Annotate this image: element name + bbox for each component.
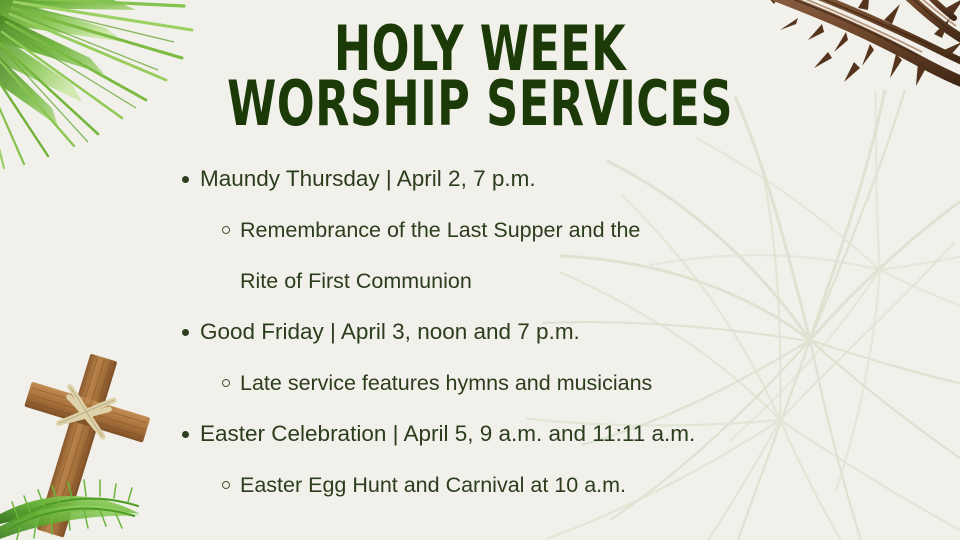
- list-item: Remembrance of the Last Supper and the: [176, 217, 916, 268]
- list-item-continuation: Rite of First Communion: [176, 268, 916, 319]
- list-item-label: Good Friday | April 3, noon and 7 p.m.: [200, 319, 580, 345]
- slide-canvas: HOLY WEEK WORSHIP SERVICES Maundy Thursd…: [0, 0, 960, 540]
- bullet-circle-icon: [222, 481, 230, 489]
- bullet-disc-icon: [182, 329, 189, 336]
- list-item-label: Easter Egg Hunt and Carnival at 10 a.m.: [240, 472, 626, 498]
- bullet-circle-icon: [222, 379, 230, 387]
- list-item-label: Maundy Thursday | April 2, 7 p.m.: [200, 166, 536, 192]
- list-item-label: Rite of First Communion: [240, 268, 472, 294]
- bullet-disc-icon: [182, 176, 189, 183]
- list-item-label: Late service features hymns and musician…: [240, 370, 652, 396]
- page-title: HOLY WEEK WORSHIP SERVICES: [0, 22, 960, 131]
- bullet-disc-icon: [182, 431, 189, 438]
- list-item: Easter Celebration | April 5, 9 a.m. and…: [176, 421, 916, 472]
- title-line-2: WORSHIP SERVICES: [96, 77, 864, 132]
- wooden-cross-with-palm-illustration: [0, 346, 205, 540]
- list-item: Maundy Thursday | April 2, 7 p.m.: [176, 166, 916, 217]
- list-item: Easter Egg Hunt and Carnival at 10 a.m.: [176, 472, 916, 523]
- list-item-label: Remembrance of the Last Supper and the: [240, 217, 640, 243]
- bullet-circle-icon: [222, 226, 230, 234]
- list-item: Late service features hymns and musician…: [176, 370, 916, 421]
- list-item-label: Easter Celebration | April 5, 9 a.m. and…: [200, 421, 695, 447]
- service-list: Maundy Thursday | April 2, 7 p.m. Rememb…: [176, 166, 916, 523]
- list-item: Good Friday | April 3, noon and 7 p.m.: [176, 319, 916, 370]
